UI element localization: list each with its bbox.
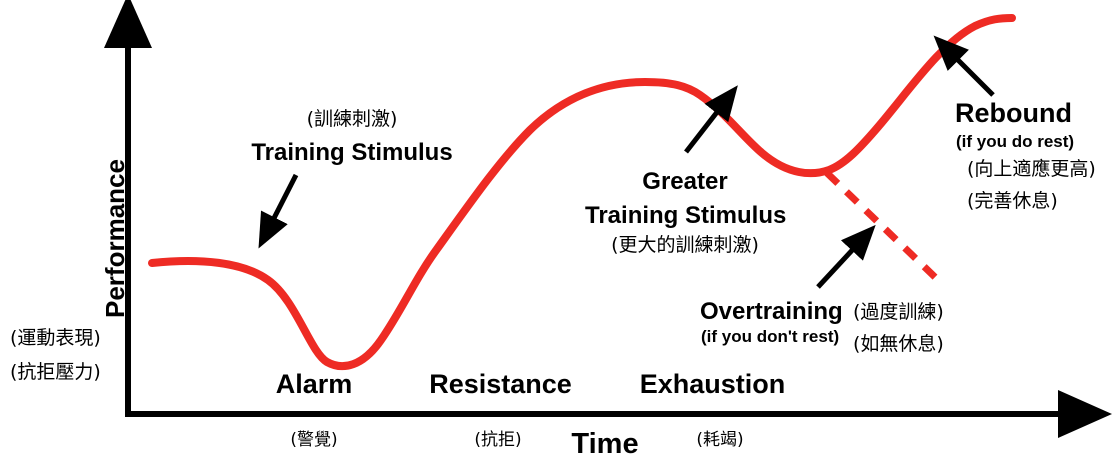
overtraining-label: Overtraining — [700, 298, 843, 326]
chart-canvas: Performance (運動表現) (抗拒壓力) (訓練刺激) Trainin… — [0, 0, 1120, 473]
phase-sublabel-exhaustion: (耗竭) — [660, 430, 780, 450]
phase-label-alarm: Alarm — [250, 369, 378, 401]
phase-sublabel-alarm: (警覺) — [255, 430, 373, 450]
greater-stimulus-line2: Training Stimulus — [585, 202, 785, 230]
rebound-arrow — [953, 55, 993, 95]
rebound-sublabel-2: (完善休息) — [967, 190, 1058, 212]
training-stimulus-arrow — [271, 175, 296, 224]
overtraining-sublabel-1: (過度訓練) — [853, 301, 944, 323]
phase-label-exhaustion: Exhaustion — [620, 369, 805, 401]
y-axis-sublabel-performance: (運動表現) — [10, 327, 101, 349]
y-axis-sublabel-stress: (抗拒壓力) — [10, 361, 101, 383]
rebound-sublabel-1: (向上適應更高) — [967, 158, 1096, 180]
rebound-condition: (if you do rest) — [956, 132, 1074, 152]
overtraining-arrow — [818, 245, 857, 287]
greater-stimulus-arrow — [686, 107, 721, 152]
overtraining-condition: (if you don't rest) — [701, 327, 839, 347]
performance-curve-svg — [0, 0, 1120, 473]
training-stimulus-sublabel: (訓練刺激) — [272, 108, 432, 130]
overtraining-sublabel-2: (如無休息) — [853, 333, 944, 355]
greater-stimulus-line1: Greater — [585, 168, 785, 196]
greater-stimulus-sublabel: (更大的訓練刺激) — [585, 234, 785, 256]
phase-label-resistance: Resistance — [413, 369, 588, 401]
y-axis-title: Performance — [100, 159, 131, 318]
training-stimulus-label: Training Stimulus — [232, 139, 472, 167]
x-axis-title: Time — [535, 427, 675, 461]
rebound-label: Rebound — [955, 98, 1072, 130]
